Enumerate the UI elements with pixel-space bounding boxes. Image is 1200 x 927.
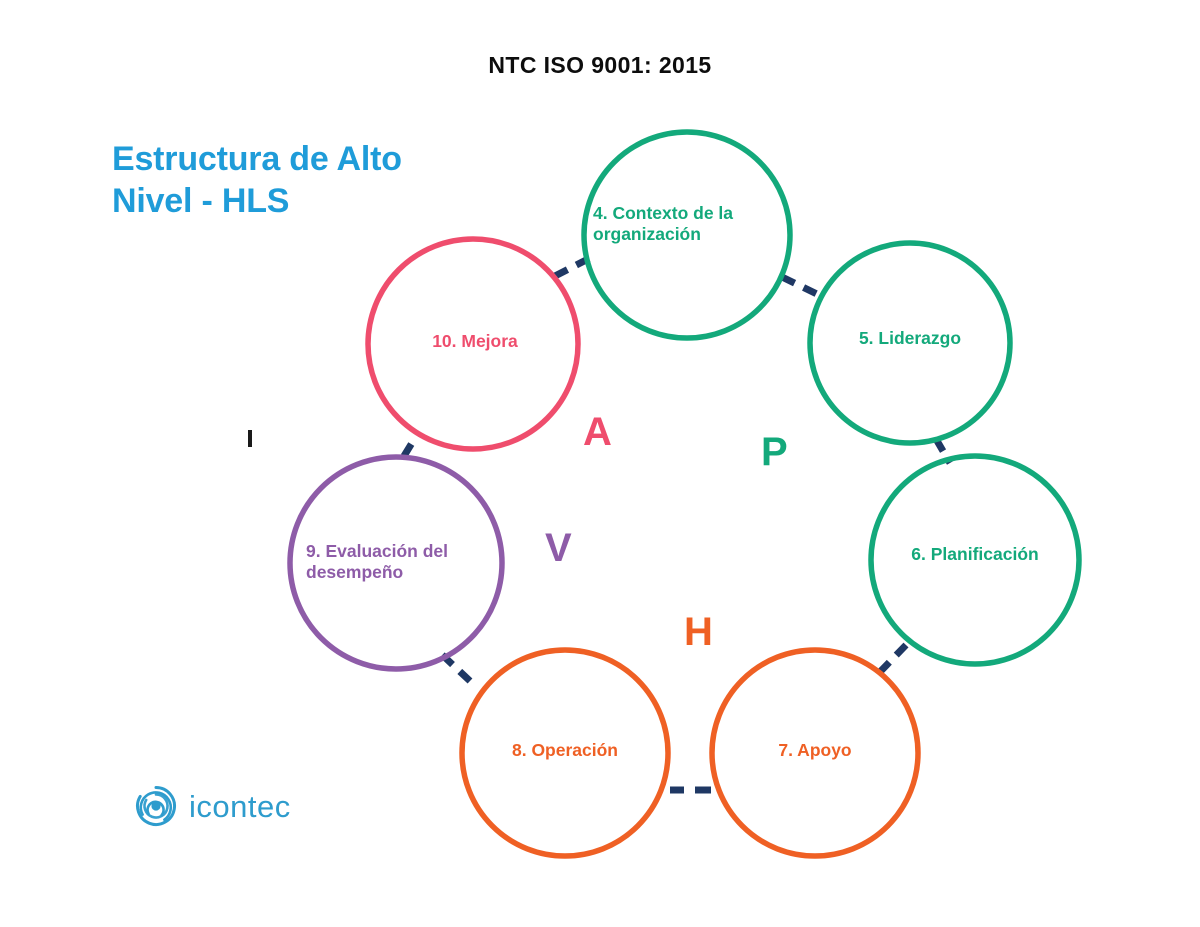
node-circle-9[interactable] bbox=[290, 457, 502, 669]
slide-canvas: NTC ISO 9001: 2015 Estructura de Alto Ni… bbox=[0, 0, 1200, 927]
node-circle-4[interactable] bbox=[584, 132, 790, 338]
node-circle-group bbox=[290, 132, 1079, 856]
connector-4-to-5 bbox=[782, 277, 821, 296]
node-circle-10[interactable] bbox=[368, 239, 578, 449]
icontec-logo: icontec bbox=[134, 784, 291, 828]
concentric-rings-icon bbox=[134, 784, 178, 828]
logo-center-dot bbox=[151, 801, 160, 810]
node-circle-6[interactable] bbox=[871, 456, 1079, 664]
icontec-wordmark: icontec bbox=[189, 791, 291, 822]
connector-9-to-10 bbox=[404, 433, 418, 456]
node-circle-7[interactable] bbox=[712, 650, 918, 856]
node-circle-8[interactable] bbox=[462, 650, 668, 856]
node-circle-5[interactable] bbox=[810, 243, 1010, 443]
